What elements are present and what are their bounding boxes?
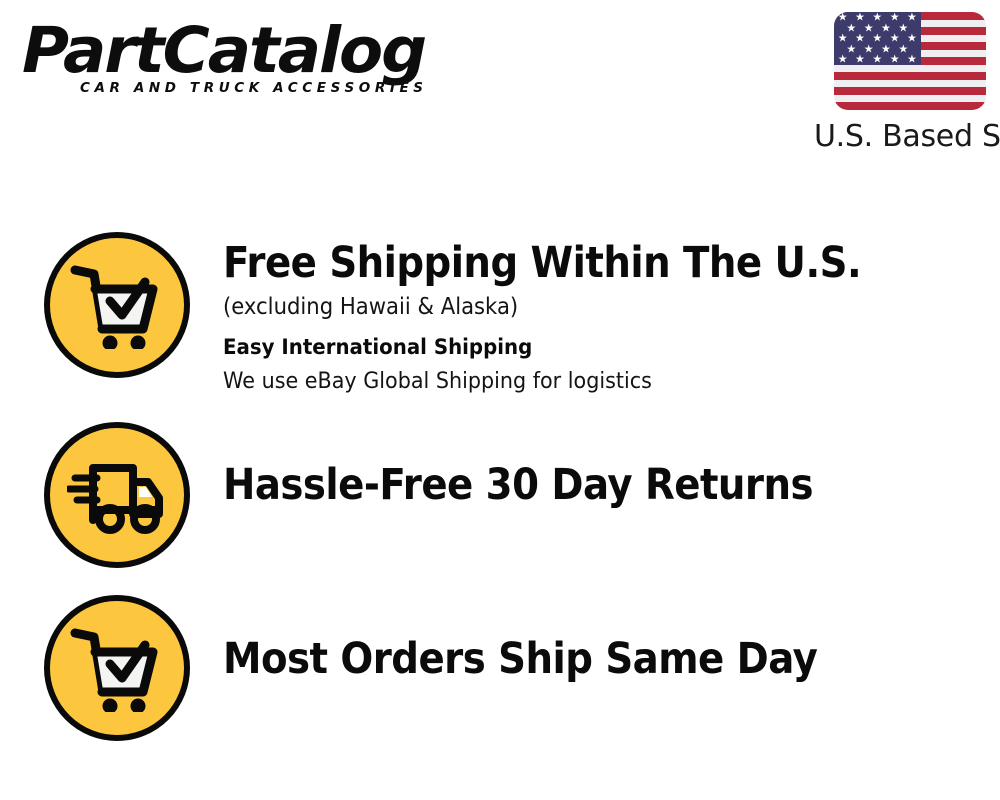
feature-row: Most Orders Ship Same Day (0, 582, 1000, 742)
flag-star-icon: ★ (872, 54, 882, 65)
delivery-truck-icon (44, 422, 190, 568)
shopping-cart-check-icon (44, 595, 190, 741)
shopping-cart-check-icon (44, 232, 190, 378)
feature-heading: Hassle-Free 30 Day Returns (223, 460, 922, 510)
flag-star-icon: ★ (838, 54, 848, 65)
feature-text-block: Hassle-Free 30 Day Returns (223, 410, 1000, 510)
flag-stripe (834, 102, 986, 110)
united-states-flag-icon: ★★★★★★★★★★★★★★★★★★★★★★★ (834, 12, 986, 110)
flag-star-icon: ★ (907, 33, 917, 44)
flag-star-icon: ★ (855, 54, 865, 65)
flag-stripe (834, 72, 986, 80)
feature-heading: Free Shipping Within The U.S. (223, 238, 922, 288)
flag-star-icon: ★ (907, 12, 917, 23)
page-header: PartCatalog CAR AND TRUCK ACCESSORIES ★★… (0, 0, 1000, 180)
brand-logo[interactable]: PartCatalog CAR AND TRUCK ACCESSORIES (22, 18, 492, 110)
flag-stripe (834, 87, 986, 95)
feature-subtext: (excluding Hawaii & Alaska) (223, 290, 938, 324)
feature-text-block: Free Shipping Within The U.S. (excluding… (223, 232, 1000, 398)
feature-text-block: Most Orders Ship Same Day (223, 582, 1000, 684)
flag-star-icon: ★ (890, 54, 900, 65)
flag-caption: U.S. Based Seller (814, 119, 986, 154)
feature-heading: Most Orders Ship Same Day (223, 634, 922, 684)
feature-secondary-heading: Easy International Shipping (223, 332, 938, 364)
feature-row: Free Shipping Within The U.S. (excluding… (0, 232, 1000, 407)
brand-wordmark: PartCatalog (22, 18, 501, 84)
flag-canton: ★★★★★★★★★★★★★★★★★★★★★★★ (834, 12, 921, 65)
feature-row: Hassle-Free 30 Day Returns (0, 410, 1000, 570)
feature-secondary-subtext: We use eBay Global Shipping for logistic… (223, 365, 938, 398)
flag-stripe (834, 95, 986, 103)
flag-star-icon: ★ (907, 54, 917, 65)
flag-stripe (834, 80, 986, 88)
us-based-seller-badge: ★★★★★★★★★★★★★★★★★★★★★★★ U.S. Based Selle… (814, 12, 986, 154)
